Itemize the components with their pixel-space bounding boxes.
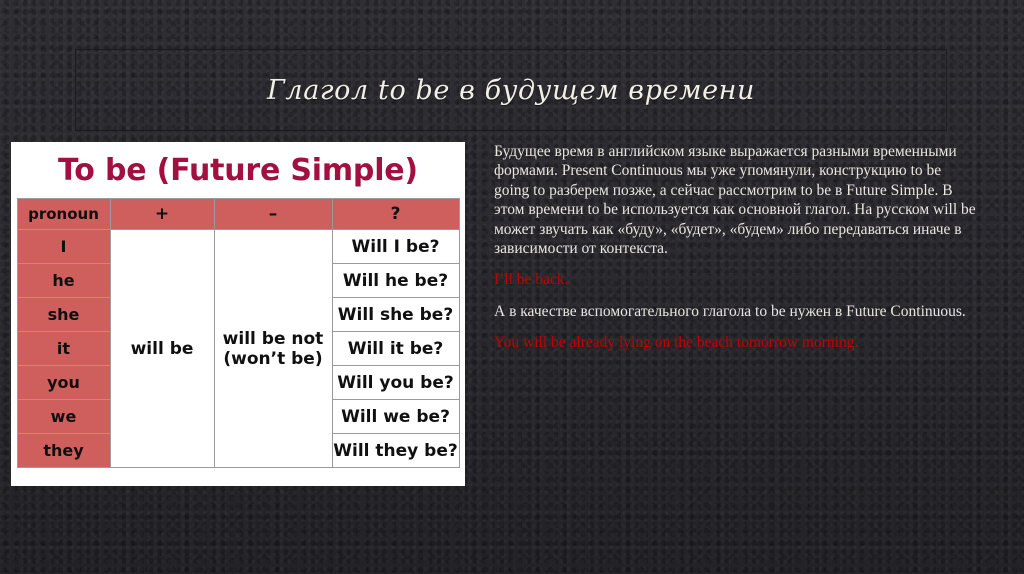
grammar-table-card: To be (Future Simple) pronoun + – ? I wi…: [11, 142, 465, 486]
card-heading: To be (Future Simple): [11, 142, 465, 198]
pronoun-cell: he: [17, 264, 110, 298]
question-cell: Will I be?: [332, 230, 459, 264]
example-2: You will be already lying on the beach t…: [494, 333, 978, 352]
table-header-row: pronoun + – ?: [17, 199, 459, 230]
pronoun-cell: it: [17, 332, 110, 366]
negative-line-1: will be not: [215, 329, 332, 349]
question-cell: Will you be?: [332, 366, 459, 400]
negative-cell: will be not (won’t be): [214, 230, 332, 468]
grammar-table: pronoun + – ? I will be will be not (won…: [17, 198, 460, 468]
question-cell: Will he be?: [332, 264, 459, 298]
pronoun-cell: they: [17, 434, 110, 468]
column-header-affirmative: +: [110, 199, 214, 230]
pronoun-cell: we: [17, 400, 110, 434]
question-cell: Will they be?: [332, 434, 459, 468]
column-header-pronoun: pronoun: [17, 199, 110, 230]
pronoun-cell: you: [17, 366, 110, 400]
slide-title-box: Глагол to be в будущем времени: [75, 49, 947, 131]
column-header-question: ?: [332, 199, 459, 230]
question-cell: Will it be?: [332, 332, 459, 366]
explanation-text-block: Будущее время в английском языке выражае…: [494, 142, 978, 353]
pronoun-cell: I: [17, 230, 110, 264]
paragraph-2: А в качестве вспомогательного глагола to…: [494, 302, 978, 321]
question-cell: Will she be?: [332, 298, 459, 332]
column-header-negative: –: [214, 199, 332, 230]
affirmative-cell: will be: [110, 230, 214, 468]
question-cell: Will we be?: [332, 400, 459, 434]
pronoun-cell: she: [17, 298, 110, 332]
page-title: Глагол to be в будущем времени: [267, 75, 755, 106]
negative-line-2: (won’t be): [215, 349, 332, 369]
card-footer-spacer: [11, 468, 465, 485]
paragraph-1: Будущее время в английском языке выражае…: [494, 142, 978, 258]
example-1: I’ll be back.: [494, 270, 978, 289]
table-row: I will be will be not (won’t be) Will I …: [17, 230, 459, 264]
